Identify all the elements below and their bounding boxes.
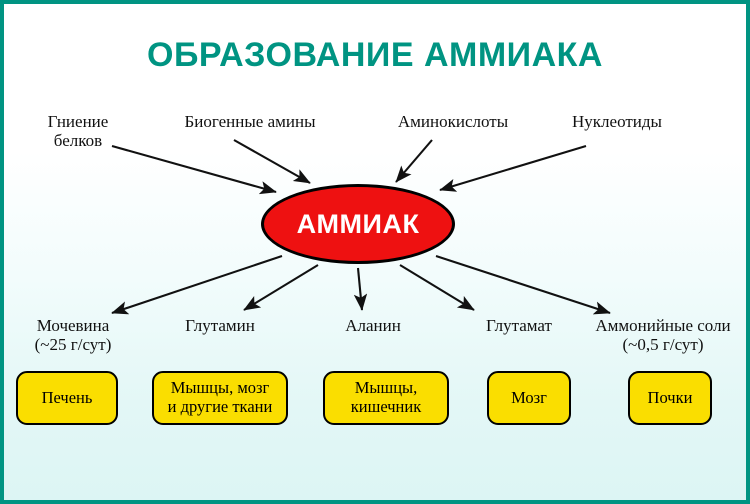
tissue-muscles-intestine-line2: кишечник [351,397,421,416]
arrow-putrefaction-to-ammonia [112,146,276,192]
product-alanine-line1: Аланин [345,316,401,335]
tissue-liver-line1: Печень [42,388,93,407]
source-biogenic-amines-line1: Биогенные амины [185,112,316,131]
product-glutamine-line1: Глутамин [185,316,255,335]
product-label-urea: Мочевина (~25 г/сут) [18,316,128,354]
source-label-biogenic-amines: Биогенные амины [165,112,335,131]
tissue-box-muscles-intestine[interactable]: Мышцы, кишечник [323,371,449,425]
diagram-canvas: ОБРАЗОВАНИЕ АММИАКА Гниение белков Биоге… [0,0,750,504]
source-nucleotides-line1: Нуклеотиды [572,112,662,131]
product-urea-line1: Мочевина [37,316,110,335]
tissue-brain-line1: Мозг [511,388,547,407]
tissue-muscles-brain-other-line2: и другие ткани [168,397,273,416]
arrow-nucleotides-to-ammonia [440,146,586,190]
arrow-ammonia-to-glutamine [244,265,318,310]
product-label-alanine: Аланин [328,316,418,335]
product-label-glutamine: Глутамин [168,316,272,335]
page-title: ОБРАЗОВАНИЕ АММИАКА [0,36,750,75]
source-putrefaction-line1: Гниение [48,112,109,131]
tissue-kidneys-line1: Почки [648,388,693,407]
product-label-glutamate: Глутамат [470,316,568,335]
source-putrefaction-line2: белков [32,131,124,150]
tissue-box-liver[interactable]: Печень [16,371,118,425]
product-ammonium-salts-line1: Аммонийные соли [595,316,730,335]
product-glutamate-line1: Глутамат [486,316,552,335]
arrow-ammonia-to-urea [112,256,282,313]
arrow-biogenic-amines-to-ammonia [234,140,310,183]
product-urea-line2: (~25 г/сут) [18,335,128,354]
arrow-amino-acids-to-ammonia [396,140,432,182]
tissue-box-kidneys[interactable]: Почки [628,371,712,425]
source-amino-acids-line1: Аминокислоты [398,112,508,131]
arrow-ammonia-to-alanine [358,268,362,310]
tissue-muscles-brain-other-line1: Мышцы, мозг [171,378,270,397]
arrow-ammonia-to-glutamate [400,265,474,310]
product-label-ammonium-salts: Аммонийные соли (~0,5 г/сут) [583,316,743,354]
ammonia-node-label: АММИАК [297,209,420,240]
source-label-nucleotides: Нуклеотиды [553,112,681,131]
source-label-putrefaction: Гниение белков [32,112,124,150]
source-label-amino-acids: Аминокислоты [382,112,524,131]
tissue-box-muscles-brain-other[interactable]: Мышцы, мозг и другие ткани [152,371,288,425]
product-ammonium-salts-line2: (~0,5 г/сут) [583,335,743,354]
tissue-muscles-intestine-line1: Мышцы, [355,378,418,397]
tissue-box-brain[interactable]: Мозг [487,371,571,425]
arrow-ammonia-to-ammonium-salts [436,256,610,313]
ammonia-node: АММИАК [261,184,455,264]
